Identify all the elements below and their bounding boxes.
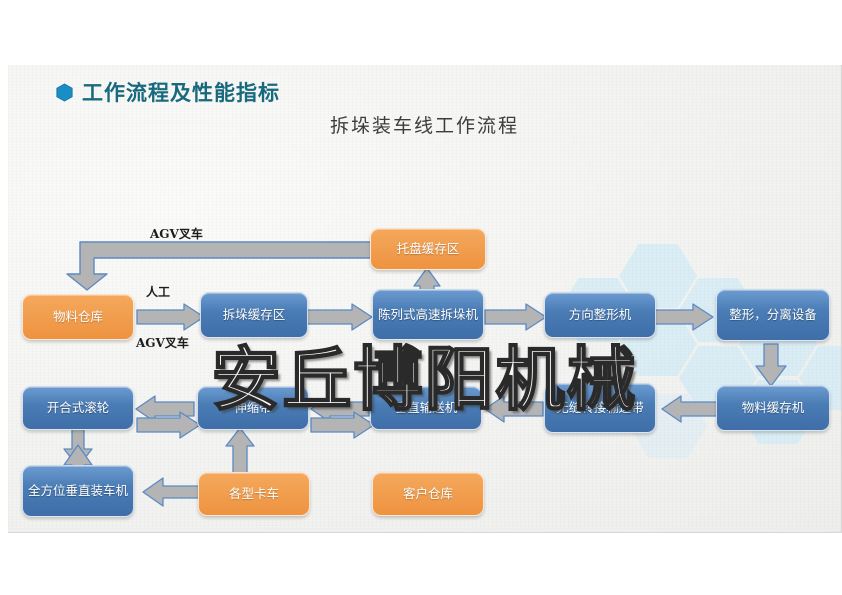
node-label: 客户仓库	[403, 486, 453, 502]
node-shaping-separating-equipment[interactable]: 整形，分离设备	[716, 289, 830, 341]
arrow-material-buffer-to-seamless-belt	[662, 396, 720, 422]
node-label: 全方位垂直装车机	[28, 483, 128, 499]
node-label: 物料缓存机	[742, 400, 805, 416]
node-pallet-buffer-area[interactable]: 托盘缓存区	[370, 228, 486, 270]
page-title-text: 工作流程及性能指标	[82, 77, 280, 107]
node-label: 方向整形机	[569, 307, 632, 323]
arrow-various-trucks-to-customer-warehouse	[311, 412, 375, 438]
arrow-depalletizer-to-shaping-machine	[485, 304, 547, 330]
node-seamless-transfer-belt[interactable]: 无缝转接输送带	[544, 383, 656, 433]
node-label: 垂直输送机	[395, 400, 458, 416]
arrow-depal-buffer-to-depalletizer	[307, 304, 373, 330]
arrow-material-warehouse-to-depal-buffer	[137, 304, 205, 330]
node-vertical-conveyor[interactable]: 垂直输送机	[370, 386, 482, 430]
node-label: 开合式滚轮	[47, 400, 110, 416]
slide-canvas: 工作流程及性能指标 拆垛装车线工作流程	[8, 65, 842, 533]
edge-label-agv-forklift-top: AGV叉车	[150, 225, 203, 242]
hexagon-decoration	[511, 232, 841, 532]
node-various-trucks[interactable]: 各型卡车	[198, 472, 310, 516]
hexagon-bullet-icon	[56, 83, 73, 102]
slide-page: 工作流程及性能指标 拆垛装车线工作流程	[0, 0, 842, 595]
node-depalletizing-buffer-area[interactable]: 拆垛缓存区	[200, 292, 308, 338]
node-customer-warehouse[interactable]: 客户仓库	[372, 472, 484, 516]
edge-label-agv-forklift-bottom: AGV叉车	[136, 334, 189, 351]
node-label: 托盘缓存区	[397, 241, 460, 257]
node-label: 拆垛缓存区	[223, 307, 286, 323]
edge-label-manual: 人工	[146, 283, 170, 300]
node-label: 无缝转接输送带	[556, 400, 644, 416]
arrow-seamless-belt-to-vertical-conveyor	[485, 396, 543, 422]
node-direction-shaping-machine[interactable]: 方向整形机	[544, 292, 656, 338]
node-label: 物料仓库	[53, 309, 103, 325]
flow-subtitle: 拆垛装车线工作流程	[8, 111, 841, 138]
page-title: 工作流程及性能指标	[56, 77, 280, 107]
node-openable-roller[interactable]: 开合式滚轮	[22, 386, 134, 430]
node-label: 各型卡车	[229, 486, 279, 502]
arrow-separating-equip-to-material-buffer	[756, 344, 786, 386]
node-label: 陈列式高速拆垛机	[378, 307, 478, 323]
node-omni-vertical-loader[interactable]: 全方位垂直装车机	[22, 465, 134, 517]
node-material-buffer-machine[interactable]: 物料缓存机	[716, 385, 830, 431]
arrow-pallet-buffer-to-material-warehouse	[66, 238, 376, 290]
node-high-speed-depalletizer[interactable]: 陈列式高速拆垛机	[372, 289, 484, 340]
arrow-shaping-machine-to-separating-equip	[654, 304, 714, 330]
node-telescopic-belt[interactable]: 伸缩带	[197, 386, 309, 430]
node-label: 整形，分离设备	[729, 307, 817, 323]
node-label: 伸缩带	[234, 400, 272, 416]
node-material-warehouse[interactable]: 物料仓库	[22, 294, 134, 340]
